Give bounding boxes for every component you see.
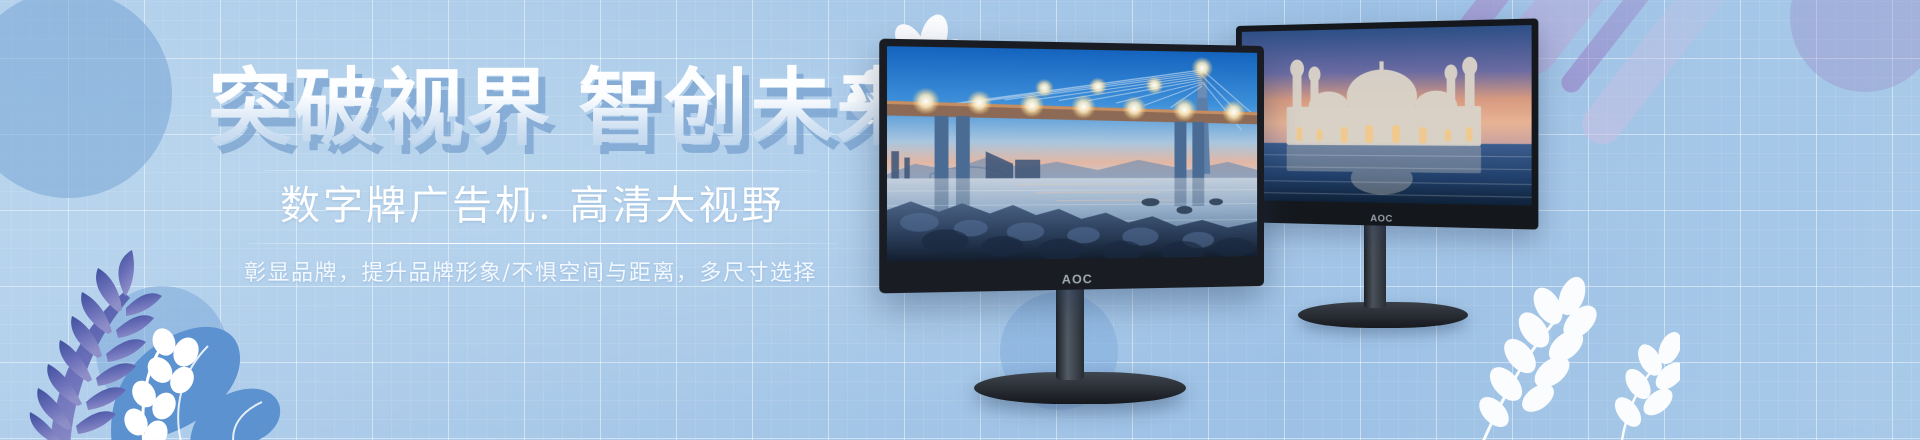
- divider-top: [264, 170, 820, 171]
- monitor-bezel: AOC: [879, 39, 1264, 294]
- copy-block: 突破视界智创未来 数字牌广告机. 高清大视野 彰显品牌，提升品牌形象/不惧空间与…: [208, 60, 908, 289]
- brand-logo-aoc: AOC: [1370, 213, 1393, 224]
- headline-part-1: 突破视界: [208, 59, 552, 157]
- divider-bottom: [248, 243, 838, 244]
- headline-part-2: 智创未来: [578, 59, 922, 157]
- monitor-stand-neck: [1364, 222, 1386, 308]
- screen-image-bridge: [887, 46, 1257, 261]
- promo-banner: 突破视界智创未来 数字牌广告机. 高清大视野 彰显品牌，提升品牌形象/不惧空间与…: [0, 0, 1920, 440]
- headline: 突破视界智创未来: [208, 60, 908, 156]
- monitor-stand-neck: [1056, 284, 1084, 380]
- monitor-front: AOC: [896, 46, 1296, 386]
- monitor-screen: [887, 46, 1257, 261]
- brand-logo-aoc: AOC: [1062, 272, 1093, 287]
- subheadline: 数字牌广告机. 高清大视野: [280, 182, 908, 230]
- tagline: 彰显品牌，提升品牌形象/不惧空间与距离，多尺寸选择: [244, 259, 908, 289]
- bridge-scene-svg: [887, 46, 1257, 261]
